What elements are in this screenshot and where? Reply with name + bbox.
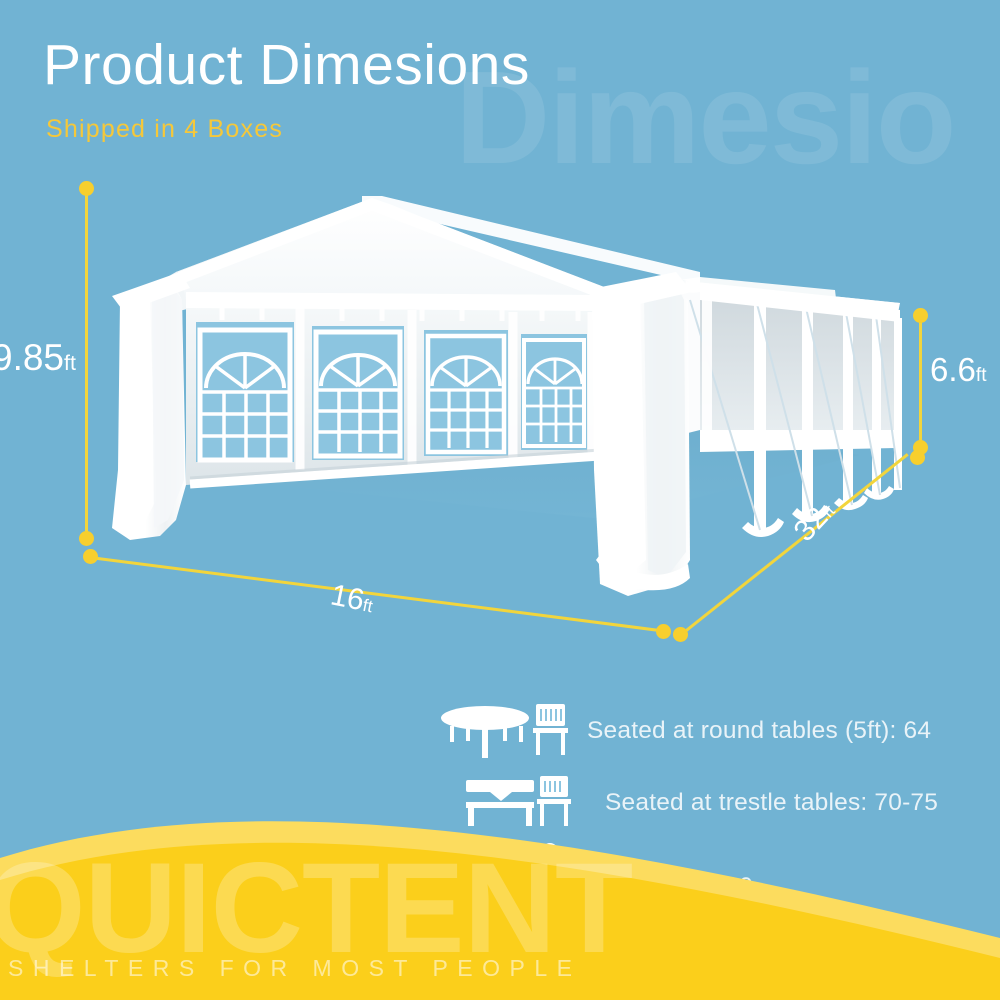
dimension-dot-depth-back (910, 450, 925, 465)
product-dimensions-infographic: Dimesio Product Dimesions Shipped in 4 B… (0, 0, 1000, 1000)
dimension-dot-height-left-bottom (79, 531, 94, 546)
dimension-dot-height-left-top (79, 181, 94, 196)
brand-tagline-text: SHELTERS FOR MOST PEOPLE (8, 955, 582, 982)
brand-watermark-text: QUICTENT (0, 845, 632, 973)
dimension-dot-depth-front (673, 627, 688, 642)
dimension-line-height-left (85, 188, 88, 540)
dimension-dot-width-left (83, 549, 98, 564)
dimension-line-height-right (919, 315, 922, 448)
dimension-dot-height-right-top (913, 308, 928, 323)
dimension-label-height-left: 9.85ft (0, 337, 76, 379)
dimension-dot-width-right (656, 624, 671, 639)
dimension-label-height-right: 6.6ft (930, 351, 987, 389)
